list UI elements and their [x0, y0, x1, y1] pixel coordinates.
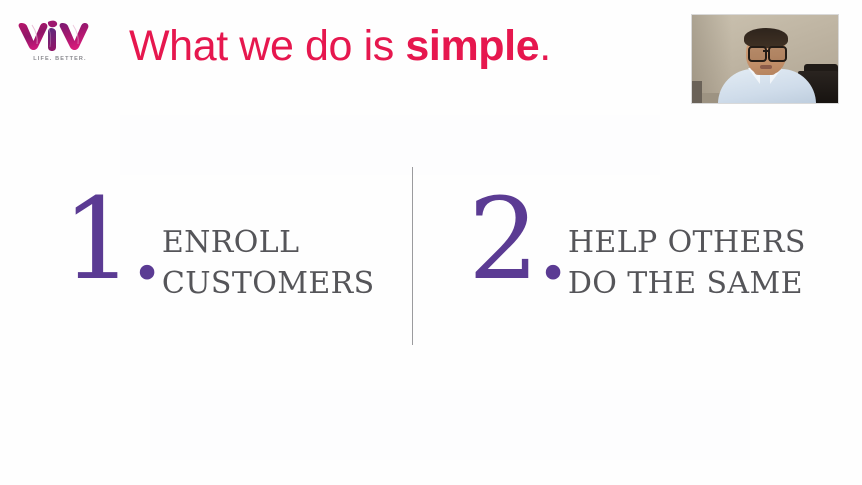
- slide-title: What we do is simple.: [129, 18, 551, 74]
- compression-artifact: [150, 390, 750, 460]
- presenter-glasses-right: [768, 46, 787, 62]
- step-2-label-line-2: DO THE SAME: [568, 263, 806, 304]
- step-1-number: 1.: [62, 188, 161, 292]
- viv-logo-mark: [18, 20, 98, 52]
- step-2-number: 2.: [468, 188, 567, 292]
- presenter-hair: [744, 28, 788, 48]
- slide-title-normal: What we do is: [129, 22, 405, 70]
- step-item-1: 1. ENROLL CUSTOMERS: [62, 160, 375, 304]
- step-2-label-line-1: HELP OTHERS: [568, 222, 806, 263]
- slide-header: LIFE. BETTER. What we do is simple.: [0, 0, 862, 112]
- webcam-scene: [692, 15, 838, 103]
- presenter-mouth: [760, 65, 772, 69]
- step-1-label-line-1: ENROLL: [162, 222, 375, 263]
- step-1-label-line-2: CUSTOMERS: [162, 263, 375, 304]
- webcam-desk-edge: [692, 81, 702, 103]
- presenter-glasses-bridge: [763, 50, 768, 52]
- step-1-label: ENROLL CUSTOMERS: [162, 222, 375, 304]
- presenter-glasses-left: [748, 46, 767, 62]
- slide-title-emphasis: simple: [405, 22, 539, 70]
- presentation-slide: LIFE. BETTER. What we do is simple.: [0, 0, 862, 485]
- step-item-2: 2. HELP OTHERS DO THE SAME: [468, 160, 806, 304]
- viv-brand-logo: LIFE. BETTER.: [18, 20, 100, 72]
- steps-container: 1. ENROLL CUSTOMERS 2. HELP OTHERS DO TH…: [0, 160, 862, 360]
- column-divider: [412, 167, 413, 345]
- presenter-video-thumbnail[interactable]: [692, 15, 838, 103]
- brand-tagline: LIFE. BETTER.: [22, 56, 98, 62]
- step-2-label: HELP OTHERS DO THE SAME: [568, 222, 806, 304]
- viv-logo-svg: [18, 20, 98, 52]
- slide-title-period: .: [539, 22, 551, 70]
